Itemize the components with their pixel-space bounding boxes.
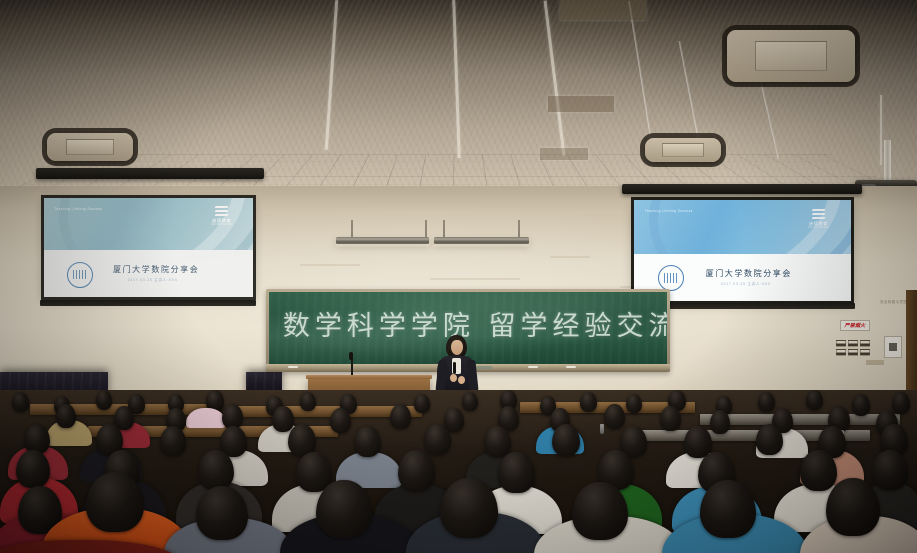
- slide-logo-subtext: EIC EDUCATION: [797, 227, 840, 229]
- wall-outlet: [866, 360, 884, 365]
- slide-brand-logo: 启德教育 EIC EDUCATION: [201, 206, 243, 226]
- light-switch[interactable]: [860, 349, 870, 356]
- wall-mark: [550, 256, 590, 258]
- audience-head: [852, 394, 870, 416]
- audience-head: [756, 424, 783, 455]
- lecture-hall-photo: Teaching Lifelong Success 启德教育 EIC EDUCA…: [0, 0, 917, 553]
- ceiling-light-fixture: [180, 146, 225, 157]
- audience-head: [800, 450, 837, 491]
- ceiling: [0, 0, 917, 190]
- light-switch[interactable]: [848, 340, 858, 347]
- lamp-suspension-rod: [518, 220, 520, 238]
- right-screen-housing: [622, 184, 862, 194]
- audience-head: [710, 410, 730, 434]
- left-screen-bottom-bar: [40, 300, 256, 306]
- wall-notice-label: 安全疏散示意图: [880, 300, 907, 305]
- air-grille: [548, 96, 614, 112]
- audience-head: [700, 480, 756, 538]
- audience-head: [414, 394, 430, 413]
- audience-head: [12, 392, 29, 412]
- layered-books-icon: [215, 206, 228, 217]
- slide-tagline: Teaching Lifelong Success: [645, 209, 693, 213]
- audience-head: [16, 450, 50, 488]
- left-projection-screen: Teaching Lifelong Success 启德教育 EIC EDUCA…: [44, 198, 253, 297]
- audience-head: [572, 482, 628, 540]
- light-switch-panel[interactable]: [836, 340, 870, 356]
- fire-safety-sign: 严禁烟火: [840, 320, 870, 331]
- air-grille: [540, 148, 588, 160]
- ac-vent: [727, 30, 855, 82]
- slide-title: 厦门大学数院分享会: [706, 268, 792, 279]
- audience-head: [806, 390, 823, 410]
- audience-head: [354, 426, 381, 457]
- university-seal-icon: [67, 262, 93, 288]
- air-grille: [560, 0, 646, 20]
- audience-head: [330, 408, 351, 433]
- audience-head: [580, 392, 597, 412]
- university-seal-icon: [658, 265, 684, 291]
- blackboard: 数学科学学院 留学经验交流会: [269, 292, 667, 364]
- audience-head: [872, 450, 908, 490]
- lectern-top: [306, 375, 432, 379]
- slide-title: 厦门大学数院分享会: [113, 264, 199, 275]
- audience-head: [398, 450, 435, 491]
- audience-head: [196, 486, 248, 540]
- speaker-hand: [450, 374, 457, 382]
- audience: [0, 390, 917, 553]
- audience-head: [552, 424, 580, 456]
- ac-vent: [645, 138, 721, 162]
- notice-graphic-icon: [889, 343, 897, 351]
- fire-sign-text: 严禁烟火: [844, 322, 865, 329]
- slide-date-line: 2017.03.25 主讲人:XXX: [721, 281, 771, 286]
- suspended-light-fixture: [434, 237, 529, 244]
- ceiling-light-fixture: [331, 148, 374, 158]
- audience-head: [96, 390, 112, 410]
- audience-head: [440, 478, 498, 538]
- audience-head: [758, 392, 775, 412]
- chalk-piece: [288, 366, 298, 368]
- audience-head: [424, 424, 451, 455]
- ceiling-light-fixture: [261, 100, 316, 115]
- chalk-piece: [566, 366, 576, 368]
- audience-head: [198, 450, 234, 490]
- audience-head: [660, 406, 681, 431]
- chalk-piece: [528, 366, 538, 368]
- audience-head: [300, 392, 316, 411]
- audience-head: [626, 394, 642, 413]
- handheld-microphone: [453, 362, 456, 374]
- audience-head: [498, 452, 535, 493]
- suspended-light-fixture: [336, 237, 429, 244]
- ceiling-light-fixture: [0, 146, 43, 158]
- left-screen-housing: [36, 168, 264, 179]
- audience-head: [484, 426, 511, 457]
- audience-head: [390, 404, 411, 429]
- audience-head: [272, 406, 294, 432]
- audience-head: [160, 426, 186, 456]
- audience-head: [892, 392, 910, 414]
- light-switch[interactable]: [860, 340, 870, 347]
- ceiling-light-fixture: [742, 148, 789, 159]
- right-projection-screen: Teaching Lifelong Success 启德教育 EIC EDUCA…: [634, 200, 851, 301]
- slide-header: Teaching Lifelong Success 启德教育 EIC EDUCA…: [634, 200, 851, 254]
- slide: Teaching Lifelong Success 启德教育 EIC EDUCA…: [634, 200, 851, 301]
- audience-head: [316, 480, 372, 538]
- speaker-hand: [458, 376, 465, 384]
- audience-head: [826, 478, 880, 536]
- slide-tagline: Teaching Lifelong Success: [54, 207, 102, 211]
- light-switch[interactable]: [836, 349, 846, 356]
- lamp-suspension-rod: [443, 220, 445, 238]
- ceiling-light-fixture: [58, 98, 118, 115]
- audience-torso: [186, 408, 226, 428]
- wall-mark: [300, 264, 360, 266]
- ceiling-beam: [880, 95, 882, 165]
- slide-brand-logo: 启德教育 EIC EDUCATION: [797, 209, 840, 229]
- light-switch[interactable]: [848, 349, 858, 356]
- lamp-suspension-rod: [351, 220, 353, 238]
- audience-head: [604, 404, 625, 429]
- ceiling-light-fixture: [617, 104, 667, 117]
- audience-head: [56, 404, 76, 428]
- slide-header: Teaching Lifelong Success 启德教育 EIC EDUCA…: [44, 198, 253, 250]
- ac-vent: [47, 133, 133, 161]
- projector-mount-pole: [884, 140, 891, 182]
- wall-mark: [430, 278, 520, 280]
- lamp-suspension-rod: [425, 220, 427, 238]
- gooseneck-microphone: [349, 352, 353, 360]
- blackboard-text: 数学科学学院 留学经验交流会: [283, 304, 653, 343]
- slide-body: 厦门大学数院分享会 2017.03.25 主讲人:XXX: [44, 250, 253, 297]
- ceiling-light-fixture: [816, 88, 877, 106]
- audience-head: [462, 392, 478, 411]
- slide-date-line: 2017.03.25 主讲人:XXX: [128, 277, 178, 282]
- slide-logo-subtext: EIC EDUCATION: [201, 224, 243, 226]
- desk-row: [700, 414, 900, 425]
- water-bottle: [600, 424, 604, 434]
- evacuation-notice: [884, 336, 902, 358]
- light-switch[interactable]: [836, 340, 846, 347]
- eraser: [476, 366, 492, 369]
- audience-head: [86, 472, 144, 532]
- layered-books-icon: [812, 209, 825, 220]
- slide: Teaching Lifelong Success 启德教育 EIC EDUCA…: [44, 198, 253, 297]
